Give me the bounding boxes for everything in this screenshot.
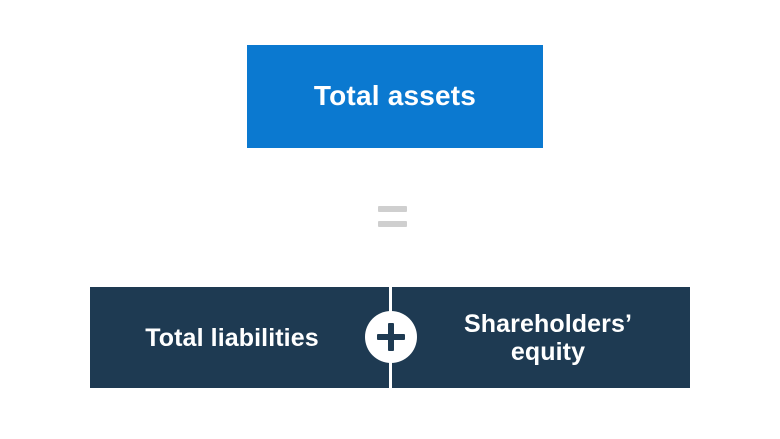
- total-assets-label: Total assets: [314, 81, 476, 112]
- equals-sign-bar-bottom: [378, 221, 407, 227]
- shareholders-equity-section[interactable]: Shareholders’equity: [390, 287, 690, 388]
- shareholders-equity-label-line1: Shareholders’: [464, 310, 632, 338]
- liabilities-equity-bar: Total liabilities Shareholders’equity: [90, 287, 690, 388]
- plus-sign-icon: [365, 311, 417, 363]
- total-liabilities-section[interactable]: Total liabilities: [90, 287, 390, 388]
- total-assets-box[interactable]: Total assets: [247, 45, 543, 148]
- plus-sign-horizontal-stroke: [377, 334, 405, 340]
- equals-sign-bar-top: [378, 206, 407, 212]
- shareholders-equity-label: Shareholders’equity: [464, 310, 632, 366]
- total-liabilities-label: Total liabilities: [145, 324, 319, 352]
- diagram-canvas: Total assets Total liabilities Sharehold…: [0, 0, 780, 439]
- equals-sign-icon: [378, 206, 407, 228]
- shareholders-equity-label-line2: equity: [511, 338, 585, 366]
